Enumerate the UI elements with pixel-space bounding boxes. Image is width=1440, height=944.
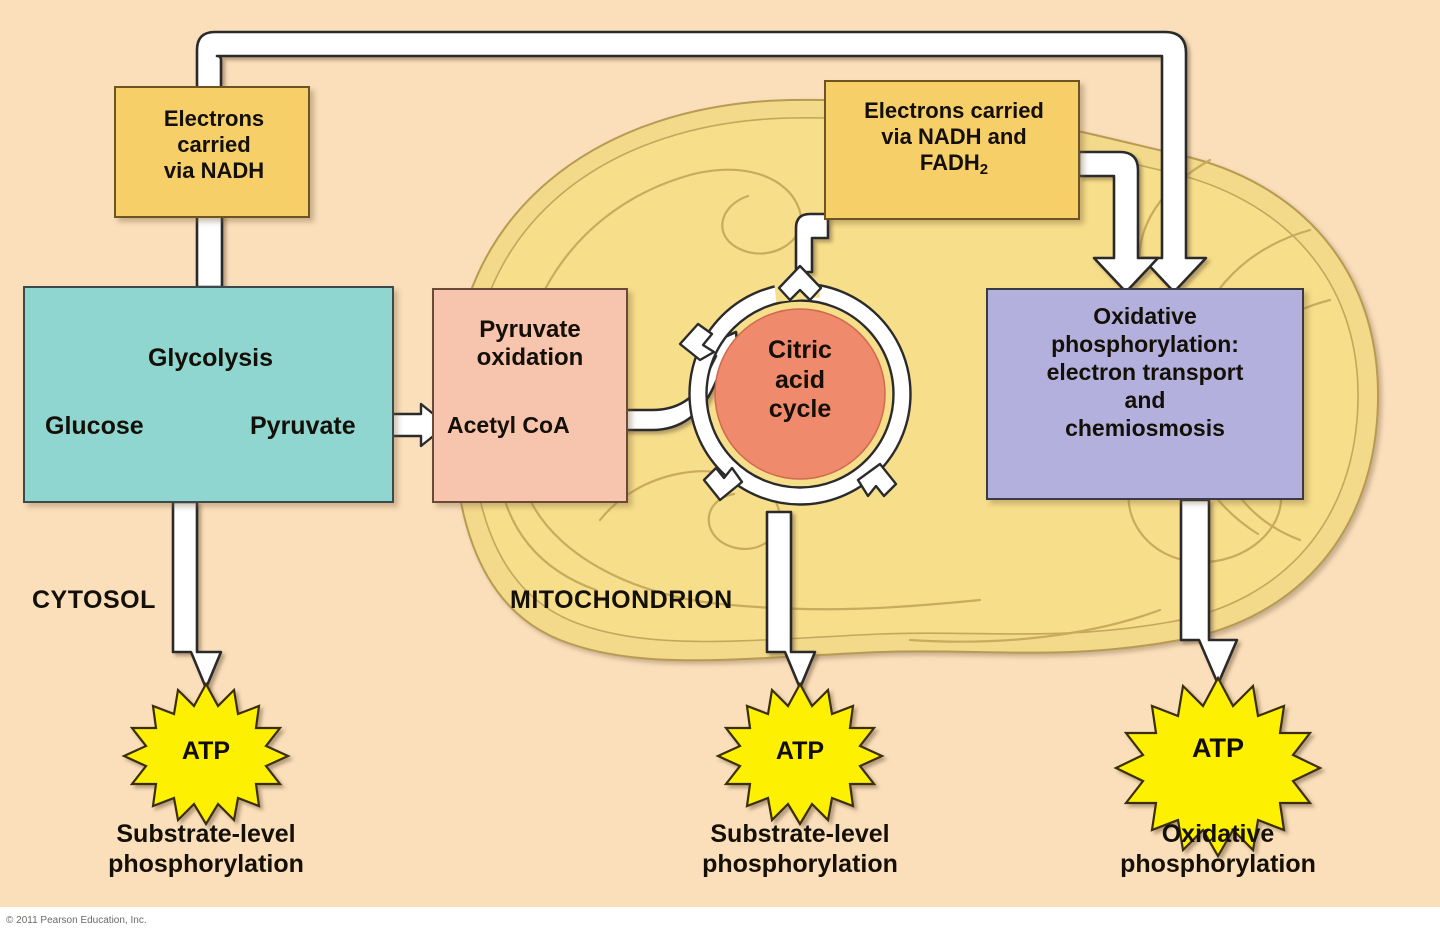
figure-canvas: Electrons carried via NADH Electrons car… [0,0,1440,944]
ec2-line1: Electrons carried [864,98,1044,123]
ec2-line3: FADH [920,150,980,175]
electron-carrier-glycolysis-text: Electrons carried via NADH [116,106,312,184]
glycolysis-box[interactable]: Glycolysis Glucose Pyruvate [23,286,394,503]
ec1-line3: via NADH [164,158,264,183]
oxidative-phosphorylation-box[interactable] [986,288,1304,500]
atp-burst-glycolysis [124,684,288,824]
atp-burst-oxidative [1116,678,1320,856]
ec2-line3-wrap: FADH2 [920,150,988,175]
electron-carrier-citric-text: Electrons carried via NADH and FADH2 [826,98,1082,179]
pyruvate-oxidation-box[interactable] [432,288,628,503]
copyright-notice: © 2011 Pearson Education, Inc. [6,915,147,926]
glycolysis-title: Glycolysis [25,344,396,374]
ec1-line1: Electrons [164,106,264,131]
electron-carrier-box-glycolysis[interactable]: Electrons carried via NADH [114,86,310,218]
ec2-line2: via NADH and [881,124,1026,149]
atp-burst-citric [718,684,882,824]
electron-carrier-box-citric[interactable]: Electrons carried via NADH and FADH2 [824,80,1080,220]
ec2-sub: 2 [980,161,988,178]
ec1-line2: carried [177,132,250,157]
